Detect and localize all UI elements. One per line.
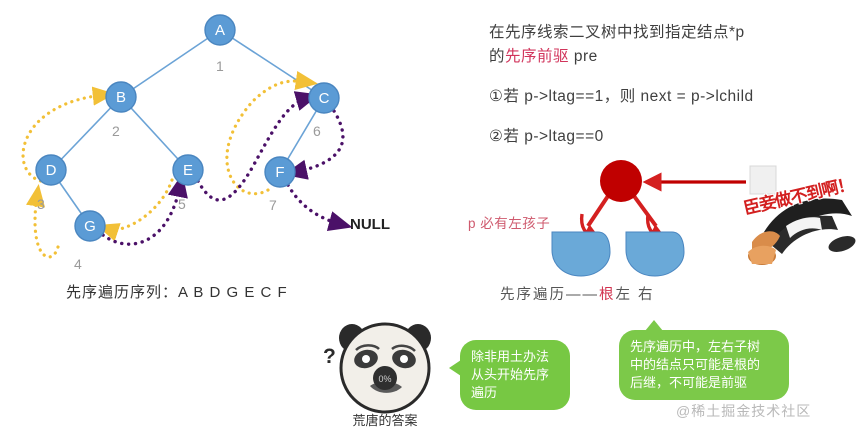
preorder-order-prefix: 先序遍历——	[500, 287, 599, 303]
edge-A-C	[220, 30, 324, 98]
node-label-E: E	[183, 162, 193, 179]
bubble-right-line-3-prefix: 后继，不可能是	[630, 375, 721, 390]
preorder-order-rest: 左 右	[616, 287, 655, 303]
speech-bubble-left: 除非用土办法 从头开始先序 遍历	[460, 340, 570, 410]
left-subtree-blob	[552, 232, 610, 276]
statement-line-2: 的先序前驱 pre	[489, 44, 598, 66]
tree-node-E[interactable]: E	[173, 155, 203, 185]
bubble-right-line-2: 中的结点只可能是根的	[630, 356, 778, 374]
question-mark-icon: ?	[323, 345, 336, 369]
preorder-order-root: 根	[599, 287, 616, 303]
tree-node-A[interactable]: A	[205, 15, 235, 45]
node-label-F: F	[275, 164, 284, 181]
tree-node-F[interactable]: F	[265, 157, 295, 187]
speech-bubble-right: 先序遍历中，左右子树 中的结点只可能是根的 后继，不可能是前驱	[619, 330, 789, 400]
edge-number-1: 1	[216, 58, 224, 74]
rule-1: ①若 p->ltag==1，则 next = p->lchild	[489, 84, 754, 106]
bubble-left-tail	[449, 360, 461, 376]
preorder-order-label: 先序遍历——根左 右	[500, 283, 655, 304]
tree-node-G[interactable]: G	[75, 211, 105, 241]
panda-caption: 荒唐的答案	[333, 410, 437, 429]
thread-arrows-purple	[103, 98, 343, 244]
bubble-left-line-3: 遍历	[471, 384, 559, 402]
statement-line-2-prefix: 的	[489, 48, 505, 65]
bubble-left-line-1: 除非用土办法	[471, 348, 559, 366]
node-label-D: D	[46, 162, 57, 179]
must-have-left-child-label: p 必有左孩子	[468, 212, 550, 232]
slide-canvas: A B C D E F G	[0, 0, 862, 430]
thread-E-to-C	[198, 98, 307, 200]
null-label: NULL	[350, 216, 390, 233]
thread-C-to-F	[296, 111, 343, 172]
node-label-A: A	[215, 22, 225, 39]
tree-node-C[interactable]: C	[309, 83, 339, 113]
thread-G-to-E	[103, 186, 180, 244]
panda-badge-text: 0%	[378, 374, 391, 384]
bubble-right-tail	[645, 320, 663, 331]
edge-number-5: 5	[178, 196, 186, 212]
root-right-link	[634, 196, 656, 226]
tree-node-B[interactable]: B	[106, 82, 136, 112]
root-node-p[interactable]	[600, 160, 642, 202]
statement-line-1: 在先序线索二叉树中找到指定结点*p	[489, 20, 745, 42]
edge-number-6: 6	[313, 123, 321, 139]
edge-A-B	[121, 30, 220, 97]
edge-number-3: 3	[37, 196, 45, 212]
statement-line-2-suffix: pre	[569, 48, 598, 65]
rule-2: ②若 p->ltag==0	[489, 124, 604, 146]
thread-F-to-NULL	[288, 185, 340, 224]
tree-nodes: A B C D E F G	[36, 15, 339, 241]
preorder-concept-diagram	[552, 160, 779, 276]
node-label-B: B	[116, 89, 126, 106]
watermark: @稀土掘金技术社区	[676, 401, 811, 421]
panda-meme-image: 0%	[330, 312, 440, 420]
edge-number-2: 2	[112, 123, 120, 139]
bubble-right-line-1: 先序遍历中，左右子树	[630, 338, 778, 356]
tree-edges	[51, 30, 324, 226]
edge-number-4: 4	[74, 256, 82, 272]
kneeling-meme-image: 臣妾做不到啊！	[746, 160, 860, 268]
bubble-right-line-3: 后继，不可能是前驱	[630, 374, 778, 392]
node-label-G: G	[84, 218, 96, 235]
root-left-link	[588, 196, 608, 226]
bubble-left-line-2: 从头开始先序	[471, 366, 559, 384]
statement-line-2-highlight: 先序前驱	[505, 48, 569, 65]
preorder-sequence-label: 先序遍历序列：A B D G E C F	[66, 281, 288, 302]
bubble-right-line-3-circled: 前驱	[721, 375, 747, 390]
right-subtree-blob	[626, 232, 684, 276]
node-label-C: C	[319, 90, 330, 107]
thread-E-to-G	[108, 180, 172, 230]
edge-number-7: 7	[269, 197, 277, 213]
tree-node-D[interactable]: D	[36, 155, 66, 185]
